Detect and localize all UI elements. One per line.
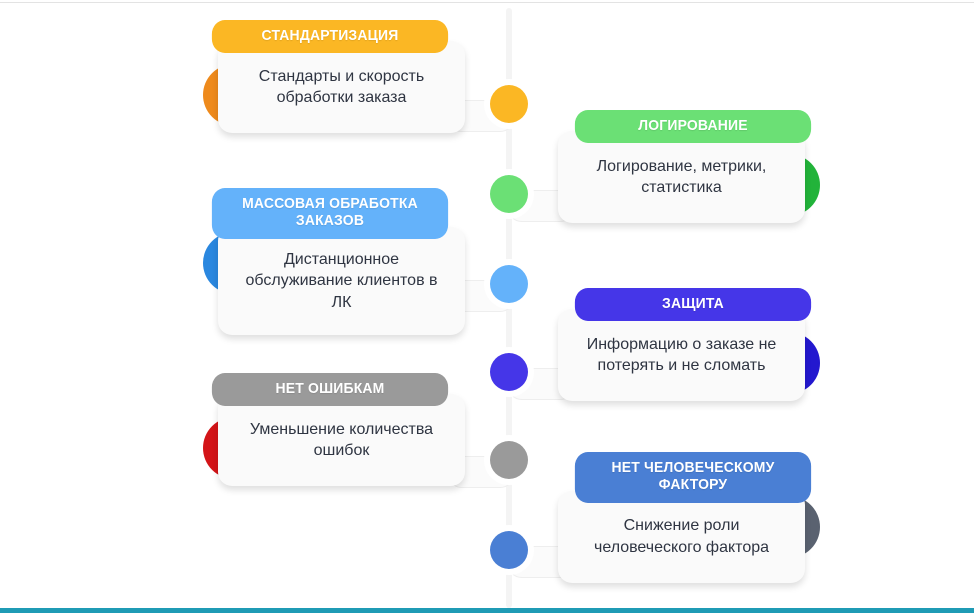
card-standardization[interactable]: СТАНДАРТИЗАЦИЯСтандарты и скорость обраб…: [203, 20, 465, 133]
top-divider: [0, 2, 974, 3]
card-title-no-human-factor: НЕТ ЧЕЛОВЕЧЕСКОМУ ФАКТОРУ: [575, 452, 811, 503]
card-body-no-human-factor: Снижение роли человеческого фактора: [558, 491, 805, 583]
infographic-slide: СТАНДАРТИЗАЦИЯСтандарты и скорость обраб…: [0, 0, 974, 616]
card-body-protection: Информацию о заказе не потерять и не сло…: [558, 309, 805, 401]
card-body-no-errors: Уменьшение количества ошибок: [218, 394, 465, 486]
card-title-mass-order-processing: МАССОВАЯ ОБРАБОТКА ЗАКАЗОВ: [212, 188, 448, 239]
card-protection[interactable]: ЗАЩИТАИнформацию о заказе не потерять и …: [558, 288, 820, 401]
footer-accent-bar: [0, 608, 974, 613]
timeline-dot-protection[interactable]: [490, 353, 528, 391]
card-logging[interactable]: ЛОГИРОВАНИЕЛогирование, метрики, статист…: [558, 110, 820, 223]
card-body-standardization: Стандарты и скорость обработки заказа: [218, 41, 465, 133]
card-title-logging: ЛОГИРОВАНИЕ: [575, 110, 811, 143]
timeline-dot-logging[interactable]: [490, 175, 528, 213]
card-title-no-errors: НЕТ ОШИБКАМ: [212, 373, 448, 406]
card-title-protection: ЗАЩИТА: [575, 288, 811, 321]
timeline-dot-no-errors[interactable]: [490, 441, 528, 479]
card-body-mass-order-processing: Дистанционное обслуживание клиентов в ЛК: [218, 227, 465, 335]
card-no-errors[interactable]: НЕТ ОШИБКАМУменьшение количества ошибок: [203, 373, 465, 486]
timeline-dot-mass-order-processing[interactable]: [490, 265, 528, 303]
card-title-standardization: СТАНДАРТИЗАЦИЯ: [212, 20, 448, 53]
timeline-dot-standardization[interactable]: [490, 85, 528, 123]
card-no-human-factor[interactable]: НЕТ ЧЕЛОВЕЧЕСКОМУ ФАКТОРУСнижение роли ч…: [558, 452, 820, 583]
card-mass-order-processing[interactable]: МАССОВАЯ ОБРАБОТКА ЗАКАЗОВДистанционное …: [203, 188, 465, 335]
card-body-logging: Логирование, метрики, статистика: [558, 131, 805, 223]
timeline-dot-no-human-factor[interactable]: [490, 531, 528, 569]
